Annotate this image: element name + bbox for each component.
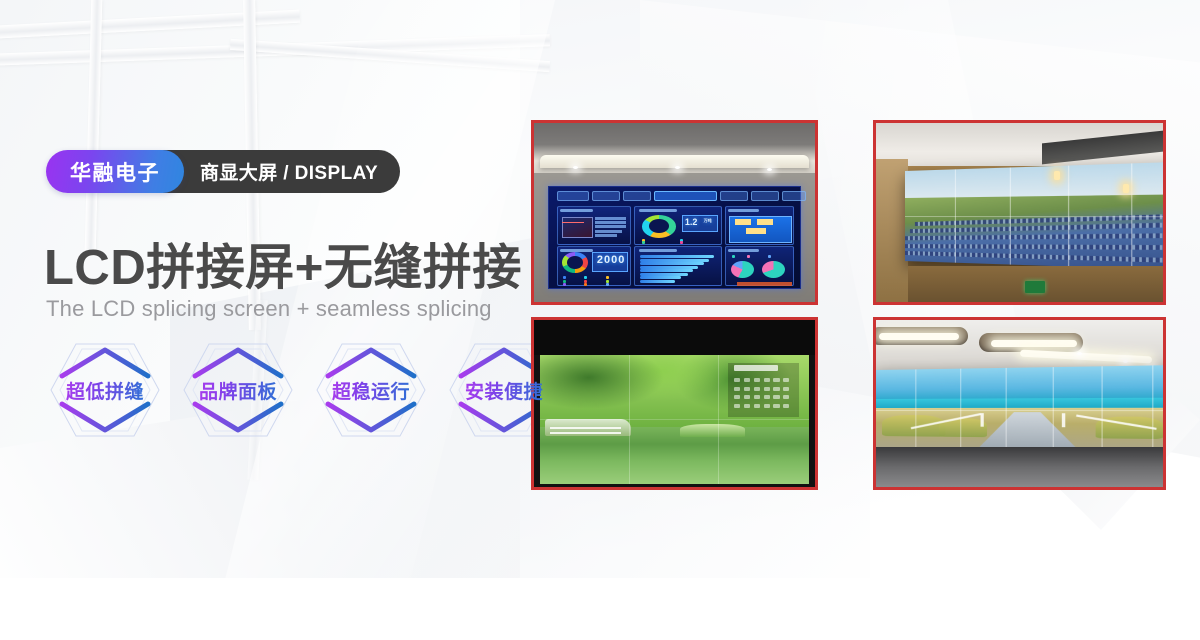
screen-post [981, 414, 984, 427]
product-photo-bottom-left[interactable] [531, 317, 818, 490]
product-photo-top-left[interactable]: 1.2 万吨 [531, 120, 818, 305]
dashboard-card: 2000 [557, 246, 632, 287]
feature-item-0[interactable]: 超低拼缝 [46, 338, 164, 442]
ceiling-spotlight [767, 168, 772, 171]
calendar-cell [754, 404, 760, 408]
calendar-cell [754, 378, 760, 382]
bar-item [640, 262, 703, 265]
legend-dot [768, 255, 771, 258]
ceiling-light-tube [991, 340, 1077, 347]
product-photo-bottom-right[interactable] [873, 317, 1166, 490]
calendar-cell [773, 395, 779, 399]
floor [876, 447, 1163, 487]
dashboard-metric-value: 1.2 [685, 217, 698, 227]
dashboard-card: 1.2 万吨 [634, 206, 721, 245]
bar-item [640, 255, 713, 258]
dashboard-footer-tag [737, 282, 792, 286]
video-wall-screen [876, 365, 1163, 455]
feature-label: 超低拼缝 [66, 377, 144, 404]
page-title: LCD拼接屏+无缝拼接 [44, 228, 522, 299]
legend-dot [606, 276, 609, 279]
window-mullion-horizontal-1 [0, 10, 300, 40]
wood-column-left [876, 159, 908, 302]
legend-dot [680, 241, 683, 244]
calendar-cell [764, 404, 770, 408]
calendar-cell [764, 395, 770, 399]
photo-scene-solar-farm-video-wall [876, 123, 1163, 302]
bar-item [640, 280, 674, 283]
screen-post [1062, 414, 1065, 428]
product-photo-top-right[interactable] [873, 120, 1166, 305]
feature-item-2[interactable]: 超稳运行 [312, 338, 430, 442]
product-photo-grid: 1.2 万吨 [531, 120, 1166, 490]
legend-dot [606, 283, 609, 286]
calendar-cell [773, 378, 779, 382]
pie-chart [731, 261, 754, 278]
dashboard-card [725, 206, 795, 245]
feature-list: 超低拼缝 品牌面板 [46, 338, 563, 442]
dashboard-card [634, 246, 721, 287]
dashboard-chip [751, 191, 779, 201]
dashboard-metric-unit: 万吨 [704, 218, 712, 224]
legend-dot [563, 276, 566, 279]
feature-item-1[interactable]: 品牌面板 [179, 338, 297, 442]
calendar-cell [764, 387, 770, 391]
photo-scene-beach-boardwalk-video-wall [876, 320, 1163, 487]
calendar-cell [764, 378, 770, 382]
video-wall-screen [540, 355, 810, 484]
video-wall-screen [905, 161, 1163, 270]
calendar-cell [744, 378, 750, 382]
screen-shrub [680, 424, 745, 437]
screen-calendar-overlay [728, 363, 798, 417]
dashboard-chip [782, 191, 805, 201]
calendar-cell [734, 378, 740, 382]
calendar-cell [773, 404, 779, 408]
legend-dot [584, 276, 587, 279]
calendar-cell [744, 395, 750, 399]
dashboard-chip [592, 191, 620, 201]
bg-bottom-white-strip [0, 578, 1200, 640]
dashboard-card [725, 246, 795, 287]
window-mullion-vertical-1 [85, 0, 103, 250]
calendar-cell [783, 395, 789, 399]
exit-sign-icon [1025, 281, 1045, 294]
legend-dot [584, 283, 587, 286]
bar-item [640, 276, 681, 279]
feature-label: 安装便捷 [465, 377, 543, 404]
photo-scene-willow-lake-video-wall [534, 320, 815, 487]
ceiling-spotlight [675, 166, 680, 169]
calendar-cell [783, 378, 789, 382]
calendar-title [734, 365, 777, 371]
legend-dot [732, 255, 735, 258]
ceiling-lamp [1054, 171, 1060, 180]
calendar-cell [734, 404, 740, 408]
dashboard-title-chip [654, 191, 717, 201]
calendar-cell [783, 387, 789, 391]
calendar-cell [754, 395, 760, 399]
legend-dot [563, 283, 566, 286]
pie-chart [762, 261, 785, 278]
calendar-cell [754, 387, 760, 391]
calendar-cell [734, 387, 740, 391]
window-mullion-horizontal-2 [0, 34, 550, 66]
calendar-cell [773, 387, 779, 391]
brand-badge: 华融电子 商显大屏 / DISPLAY [46, 150, 400, 193]
ceiling-spotlight [1123, 360, 1128, 363]
dashboard-screen: 1.2 万吨 [548, 186, 801, 290]
promo-banner: 华融电子 商显大屏 / DISPLAY LCD拼接屏+无缝拼接 The LCD … [0, 0, 1200, 640]
panel-seam [540, 419, 810, 420]
screen-white-fence [550, 427, 620, 429]
bar-item [640, 269, 693, 272]
brand-name-pill: 华融电子 [46, 150, 184, 193]
ceiling-lamp [1123, 184, 1129, 193]
window-mullion-horizontal-3 [230, 39, 550, 72]
legend-dot [747, 255, 750, 258]
page-subtitle: The LCD splicing screen + seamless splic… [46, 296, 492, 322]
calendar-cell [783, 404, 789, 408]
dashboard-chip [720, 191, 748, 201]
calendar-cell [734, 395, 740, 399]
screen-bezel-top [534, 320, 815, 355]
calendar-cell [744, 404, 750, 408]
dashboard-chip [557, 191, 590, 201]
ceiling-spotlight [1077, 352, 1082, 355]
dashboard-chip [623, 191, 651, 201]
feature-label: 超稳运行 [332, 377, 410, 404]
dashboard-metric-value: 2000 [597, 254, 625, 266]
ceiling-light-tube [879, 333, 959, 340]
dashboard-top-bar [557, 191, 793, 202]
legend-dot [642, 241, 645, 244]
feature-label: 品牌面板 [199, 377, 277, 404]
donut-hole [567, 256, 583, 269]
dashboard-card [557, 206, 632, 245]
calendar-cell [744, 387, 750, 391]
photo-scene-dashboard-video-wall: 1.2 万吨 [534, 123, 815, 302]
screen-white-fence [550, 432, 620, 434]
